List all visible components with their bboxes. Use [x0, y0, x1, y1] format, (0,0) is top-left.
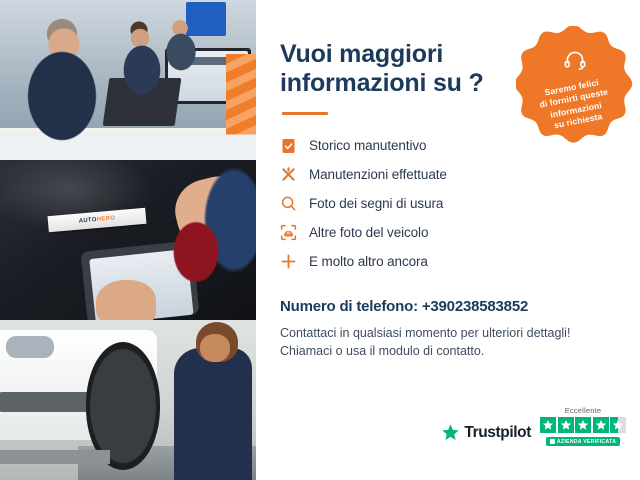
star-1-icon — [540, 417, 556, 433]
feature-label: Foto dei segni di usura — [309, 196, 443, 211]
star-3-icon — [575, 417, 591, 433]
star-2-icon — [558, 417, 574, 433]
autohero-wordmark-suffix: HERO — [97, 215, 116, 223]
feature-item-manutenzioni-effettuate: Manutenzioni effettuate — [280, 160, 618, 189]
lift-arm — [0, 450, 110, 464]
hand-lower — [96, 280, 156, 320]
car-headlight — [6, 336, 54, 358]
contact-paragraph-line1: Contattaci in qualsiasi momento per ulte… — [280, 326, 570, 340]
feature-item-molto-altro: E molto altro ancora — [280, 247, 618, 276]
headset-icon — [564, 50, 586, 75]
desktop-monitor — [165, 48, 251, 104]
wrench-tools-icon — [280, 166, 297, 183]
page-title: Vuoi maggiori informazioni su ? — [280, 40, 540, 98]
feature-item-foto-segni-usura: Foto dei segni di usura — [280, 189, 618, 218]
mechanic-wheel-check-photo — [0, 320, 256, 480]
desk-surface — [0, 128, 256, 160]
title-underline-divider — [282, 112, 328, 115]
shield-icon — [550, 439, 555, 444]
trustpilot-wordmark: Trustpilot — [464, 424, 531, 442]
plus-icon — [280, 253, 297, 270]
autohero-ruler: AUTOHERO — [47, 208, 146, 232]
trustpilot-logo: Trustpilot — [441, 423, 531, 446]
verified-company-badge: AZIENDA VERIFICATA — [546, 437, 620, 446]
autohero-inspection-ruler-photo: AUTOHERO — [0, 160, 256, 320]
phone-number[interactable]: Numero di telefono: +390238583852 — [280, 298, 618, 315]
wall-poster — [186, 2, 226, 36]
photo-column: AUTOHERO — [0, 0, 256, 480]
feature-item-altre-foto-veicolo: Altre foto del veicolo — [280, 218, 618, 247]
trustpilot-widget[interactable]: Trustpilot Eccellente AZIENDA VERIFICATA — [441, 406, 626, 446]
call-center-agents-photo — [0, 0, 256, 160]
orange-banner — [226, 54, 256, 160]
magnifier-icon — [280, 195, 297, 212]
contact-paragraph-line2: Chiamaci o usa il modulo di contatto. — [280, 344, 484, 358]
autohero-wordmark-prefix: AUTO — [78, 217, 97, 225]
feature-label: Manutenzioni effettuate — [309, 167, 447, 182]
feature-label: Altre foto del veicolo — [309, 225, 428, 240]
trustpilot-stars — [540, 417, 626, 433]
verified-company-label: AZIENDA VERIFICATA — [557, 439, 616, 445]
car-scan-frame-icon — [280, 224, 297, 241]
star-5-half-icon — [610, 417, 626, 433]
laptop — [103, 78, 182, 126]
trustpilot-star-icon — [441, 423, 460, 442]
inspection-tablet — [80, 240, 199, 320]
autohero-wordmark: AUTOHERO — [78, 215, 115, 224]
hand-upper — [169, 170, 256, 256]
callout-badge: Saremo felici di fornirti queste informa… — [516, 26, 634, 144]
info-content: Vuoi maggiori informazioni su ? Storico … — [256, 0, 640, 480]
feature-label: E molto altro ancora — [309, 254, 428, 269]
trustpilot-rating-block: Eccellente AZIENDA VERIFICATA — [540, 406, 626, 446]
feature-list: Storico manutentivo Manutenzioni effettu… — [280, 131, 618, 276]
contact-paragraph: Contattaci in qualsiasi momento per ulte… — [280, 324, 618, 360]
mechanic-person — [174, 348, 252, 480]
trustpilot-rating-label: Eccellente — [565, 406, 602, 415]
promo-info-panel: AUTOHERO Vuoi maggiori informazioni su ? — [0, 0, 640, 480]
feature-label: Storico manutentivo — [309, 138, 426, 153]
checklist-document-icon — [280, 137, 297, 154]
star-4-icon — [593, 417, 609, 433]
